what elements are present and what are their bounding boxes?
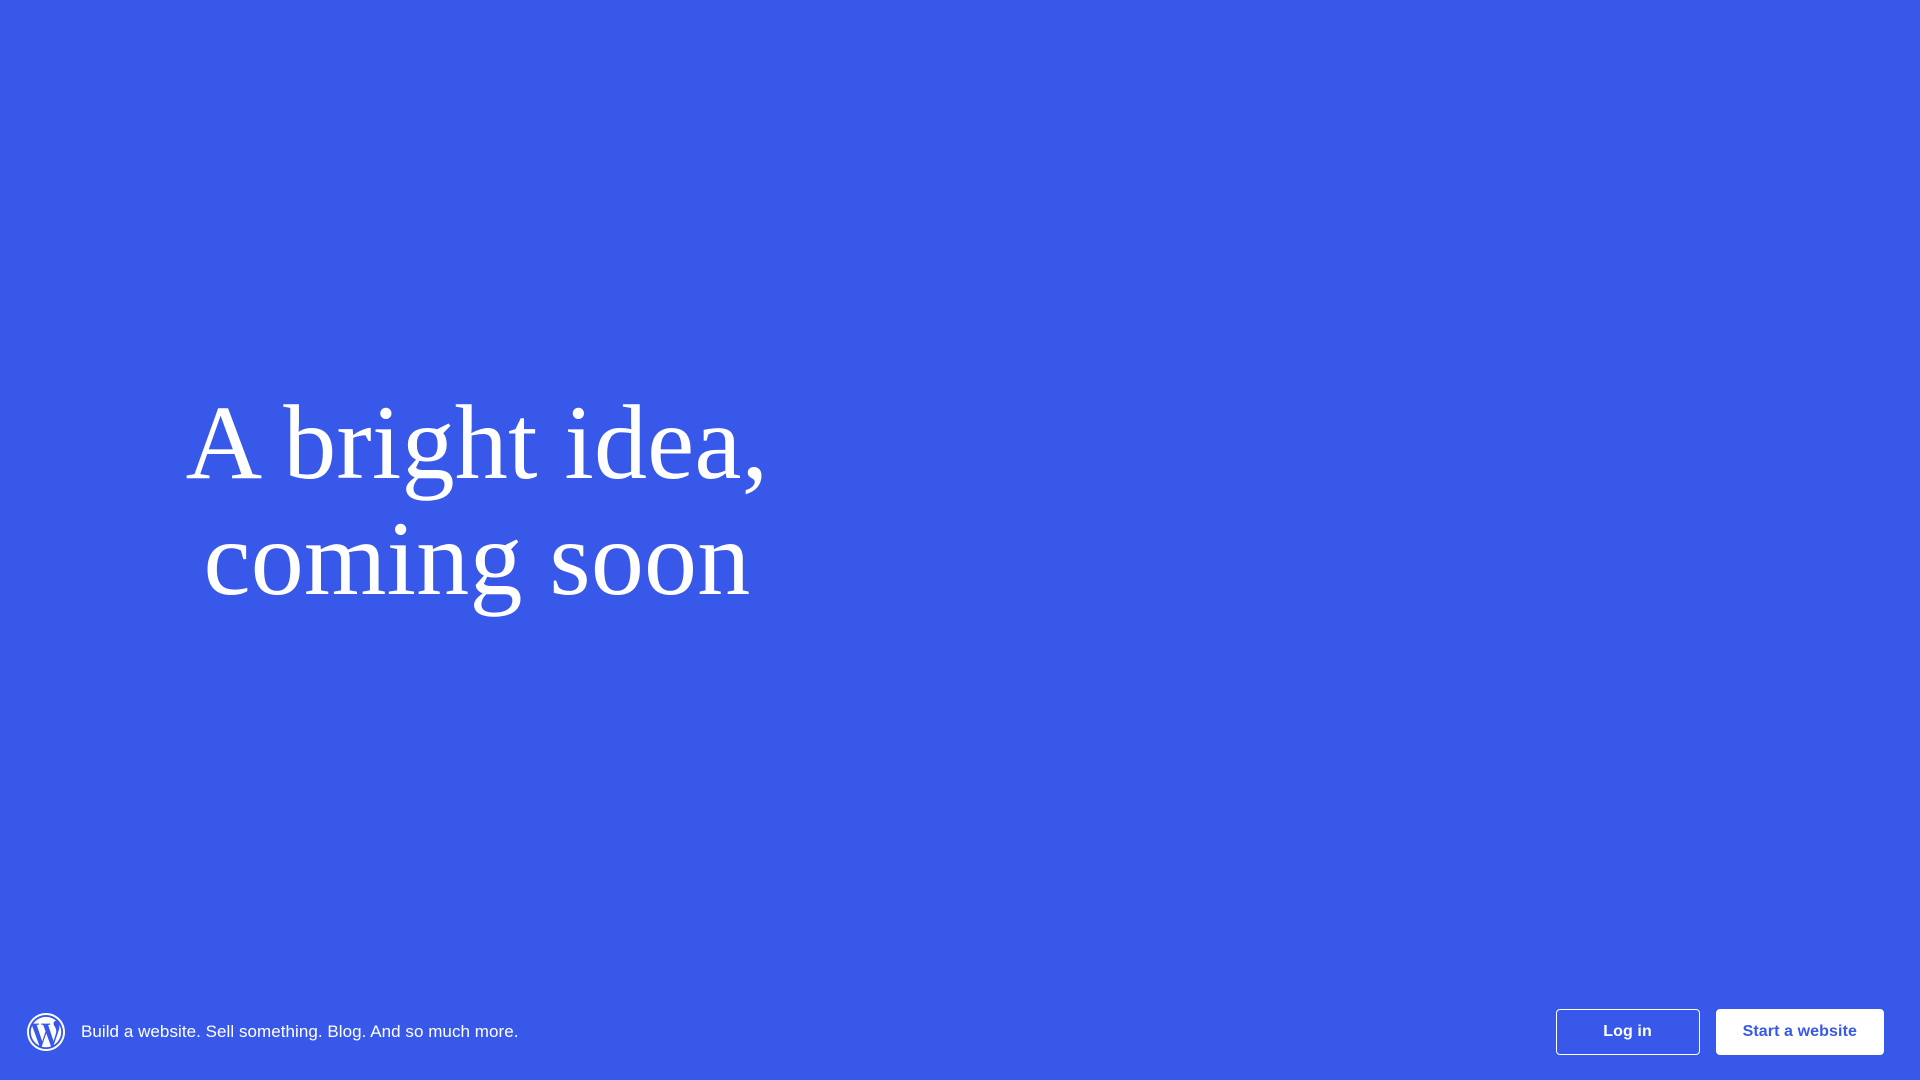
headline-line-2: coming soon — [186, 501, 769, 617]
footer-bar: Build a website. Sell something. Blog. A… — [0, 984, 1920, 1080]
page-title: A bright idea, coming soon — [172, 385, 769, 616]
brand-group: Build a website. Sell something. Blog. A… — [27, 1013, 518, 1051]
start-a-website-button[interactable]: Start a website — [1716, 1009, 1884, 1055]
footer-actions: Log in Start a website — [1556, 1009, 1884, 1055]
hero-section: A bright idea, coming soon — [0, 0, 940, 1080]
log-in-button[interactable]: Log in — [1556, 1009, 1700, 1055]
headline-line-1: A bright idea, — [186, 385, 769, 501]
wordpress-logo-icon — [27, 1013, 65, 1051]
footer-tagline: Build a website. Sell something. Blog. A… — [81, 1021, 518, 1043]
